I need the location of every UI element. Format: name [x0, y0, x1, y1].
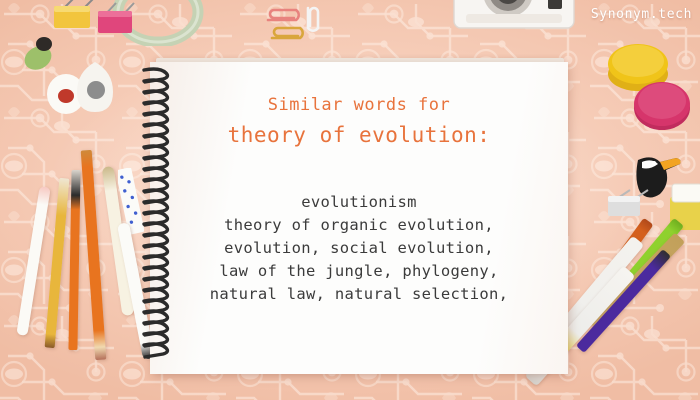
synonym-line: natural law, natural selection, [210, 283, 509, 306]
binder-clip-silver [602, 186, 654, 222]
binder-clip-pink [92, 2, 146, 42]
notebook: Similar words for theory of evolution: e… [150, 62, 568, 374]
synonym-line: law of the jungle, phylogeny, [210, 260, 509, 283]
notebook-page: Similar words for theory of evolution: e… [150, 62, 568, 374]
paperclip-gold [266, 24, 312, 46]
site-logo[interactable]: Synonym.tech [591, 7, 692, 22]
eraser-egg-gray [72, 60, 118, 114]
synonym-line: theory of organic evolution, [210, 214, 509, 237]
camera [452, 0, 578, 40]
synonym-list: evolutionism theory of organic evolution… [210, 191, 509, 306]
desk-background: Similar words for theory of evolution: e… [0, 0, 700, 400]
card-text: Similar words for theory of evolution: e… [150, 62, 568, 374]
macaron-pink [630, 76, 694, 132]
heading-prefix: Similar words for [268, 95, 451, 116]
heading-term: theory of evolution: [228, 122, 491, 148]
synonym-line: evolutionism [210, 191, 509, 214]
spiral-binding [138, 66, 180, 370]
synonym-line: evolution, social evolution, [210, 237, 509, 260]
eraser-avocado [18, 36, 54, 70]
